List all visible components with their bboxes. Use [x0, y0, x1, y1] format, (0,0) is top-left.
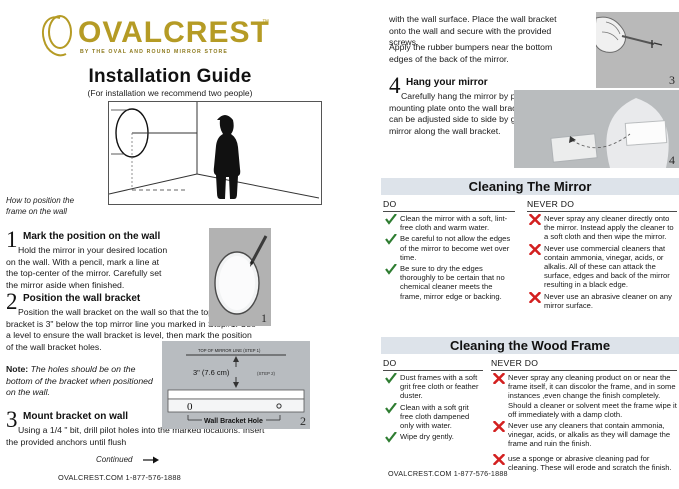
check-icon: [385, 403, 397, 414]
cross-icon: [529, 214, 541, 225]
step-2-note-text: The holes should be on the bottom of the…: [6, 364, 153, 397]
list-item-text: Never use commercial cleaners that conta…: [544, 244, 670, 290]
cleaning-frame-never-rule: [491, 370, 677, 371]
step-4-heading: Hang your mirror: [406, 77, 488, 88]
section-cleaning-mirror: Cleaning The Mirror DO NEVER DO Clean th…: [381, 178, 679, 326]
list-item: Never use commercial cleaners that conta…: [529, 244, 677, 290]
list-item: use a sponge or abrasive cleaning pad fo…: [493, 454, 677, 472]
section-cleaning-wood-frame: Cleaning the Wood Frame DO NEVER DO Dust…: [381, 337, 679, 483]
list-item: Be careful to not allow the edges of the…: [385, 234, 513, 262]
list-item-text: Never use any cleaners that contain ammo…: [508, 421, 670, 448]
cleaning-mirror-column-headers: DO NEVER DO: [381, 199, 679, 214]
check-icon: [385, 373, 397, 384]
cleaning-mirror-never-label: NEVER DO: [527, 199, 574, 209]
list-item: Dust frames with a soft grit free cloth …: [385, 373, 481, 401]
list-item-text: Never use an abrasive cleaner on any mir…: [544, 292, 672, 310]
cleaning-frame-lists: Dust frames with a soft grit free cloth …: [381, 373, 679, 483]
cleaning-mirror-do-list: Clean the mirror with a soft, lint-free …: [385, 214, 513, 303]
brand-logo: OVALCREST ™ BY THE OVAL AND ROUND MIRROR…: [30, 16, 320, 60]
check-icon: [385, 264, 397, 275]
bracket-hole-label: Wall Bracket Hole: [204, 418, 263, 425]
right-paragraph-2: Apply the rubber bumpers near the bottom…: [389, 42, 567, 65]
footer-contact-right: OVALCREST.COM 1-877-576-1888: [388, 469, 508, 478]
left-column: OVALCREST ™ BY THE OVAL AND ROUND MIRROR…: [0, 0, 372, 489]
cleaning-mirror-do-label: DO: [383, 199, 397, 209]
list-item-text: Never spray any cleaner directly onto th…: [544, 214, 674, 241]
list-item: Wipe dry gently.: [385, 432, 481, 441]
list-item: Be sure to dry the edges thoroughly to b…: [385, 264, 513, 301]
cross-icon: [529, 292, 541, 303]
continued-label: Continued: [96, 455, 132, 464]
arrow-right-icon: [142, 455, 160, 465]
cleaning-frame-do-label: DO: [383, 358, 397, 368]
step-2-note: Note: The holes should be on the bottom …: [6, 364, 158, 399]
bracket-measure-step: (STEP 2): [257, 371, 276, 376]
room-diagram-svg: [109, 102, 319, 202]
photo-panel-mirror-back: 4: [514, 90, 679, 168]
list-item-text: Clean with a soft grit free cloth dampen…: [400, 403, 469, 430]
list-item-text: use a sponge or abrasive cleaning pad fo…: [508, 454, 672, 472]
bracket-top-line-label: TOP OF MIRROR LINE (STEP 1): [198, 348, 261, 353]
footer-contact-left: OVALCREST.COM 1-877-576-1888: [58, 473, 181, 482]
cross-icon: [529, 244, 541, 255]
installation-guide-page: OVALCREST ™ BY THE OVAL AND ROUND MIRROR…: [0, 0, 679, 489]
panel-2-number: 2: [300, 414, 306, 429]
cleaning-frame-never-label: NEVER DO: [491, 358, 538, 368]
cross-icon: [493, 421, 505, 432]
cleaning-frame-heading: Cleaning the Wood Frame: [381, 337, 679, 354]
cleaning-mirror-do-rule: [383, 211, 515, 212]
svg-text:0: 0: [187, 401, 193, 413]
check-icon: [385, 432, 397, 443]
bracket-measure-text: 3" (7.6 cm): [193, 368, 230, 377]
list-item: Never spray any cleaner directly onto th…: [529, 214, 677, 242]
list-item-text: Be careful to not allow the edges of the…: [400, 234, 510, 261]
cross-icon: [493, 454, 505, 465]
list-item: Never use an abrasive cleaner on any mir…: [529, 292, 677, 310]
list-item: Clean with a soft grit free cloth dampen…: [385, 403, 481, 431]
step-2-heading: Position the wall bracket: [23, 293, 140, 304]
check-icon: [385, 234, 397, 245]
cleaning-frame-do-list: Dust frames with a soft grit free cloth …: [385, 373, 481, 443]
step-3-heading: Mount bracket on wall: [23, 411, 128, 422]
check-icon: [385, 214, 397, 225]
list-item: Clean the mirror with a soft, lint-free …: [385, 214, 513, 232]
list-item-text: Never spray any cleaning product on or n…: [508, 373, 677, 419]
page-subtitle: (For installation we recommend two peopl…: [0, 88, 340, 98]
list-item: Never spray any cleaning product on or n…: [493, 373, 677, 419]
brand-name: OVALCREST: [78, 18, 270, 48]
step-1-body: Hold the mirror in your desired location…: [6, 245, 168, 291]
panel-3-art: [596, 12, 679, 88]
photo-panel-mirror-pencil: 1: [209, 228, 271, 326]
diagram-caption: How to position the frame on the wall: [6, 195, 102, 217]
cleaning-mirror-never-list: Never spray any cleaner directly onto th…: [529, 214, 677, 312]
cross-icon: [493, 373, 505, 384]
brand-tagline: BY THE OVAL AND ROUND MIRROR STORE: [80, 49, 228, 55]
cleaning-frame-do-rule: [383, 370, 483, 371]
trademark-symbol: ™: [262, 19, 269, 26]
page-title: Installation Guide: [0, 66, 340, 88]
photo-panel-wall-bracket: 0 3" (7.6 cm) (STEP 2) TOP OF MIRROR LIN…: [162, 341, 310, 429]
cleaning-mirror-heading: Cleaning The Mirror: [381, 178, 679, 195]
room-position-diagram: [108, 101, 322, 205]
panel-4-art: [514, 90, 679, 168]
cleaning-frame-column-headers: DO NEVER DO: [381, 358, 679, 373]
cleaning-mirror-lists: Clean the mirror with a soft, lint-free …: [381, 214, 679, 326]
cleaning-frame-never-list: Never spray any cleaning product on or n…: [493, 373, 677, 474]
step-1-heading: Mark the position on the wall: [23, 231, 160, 242]
panel-2-art: 0 3" (7.6 cm) (STEP 2) TOP OF MIRROR LIN…: [162, 341, 310, 429]
panel-1-number: 1: [261, 311, 267, 326]
list-item: Never use any cleaners that contain ammo…: [493, 421, 677, 449]
step-2-note-label: Note:: [6, 364, 28, 374]
panel-3-number: 3: [669, 73, 675, 88]
cleaning-mirror-never-rule: [527, 211, 677, 212]
list-item-text: Be sure to dry the edges thoroughly to b…: [400, 264, 505, 301]
panel-4-number: 4: [669, 153, 675, 168]
list-item-text: Wipe dry gently.: [400, 432, 454, 441]
list-item-text: Dust frames with a soft grit free cloth …: [400, 373, 479, 400]
photo-panel-screwdriver: 3: [596, 12, 679, 88]
list-item-text: Clean the mirror with a soft, lint-free …: [400, 214, 507, 232]
